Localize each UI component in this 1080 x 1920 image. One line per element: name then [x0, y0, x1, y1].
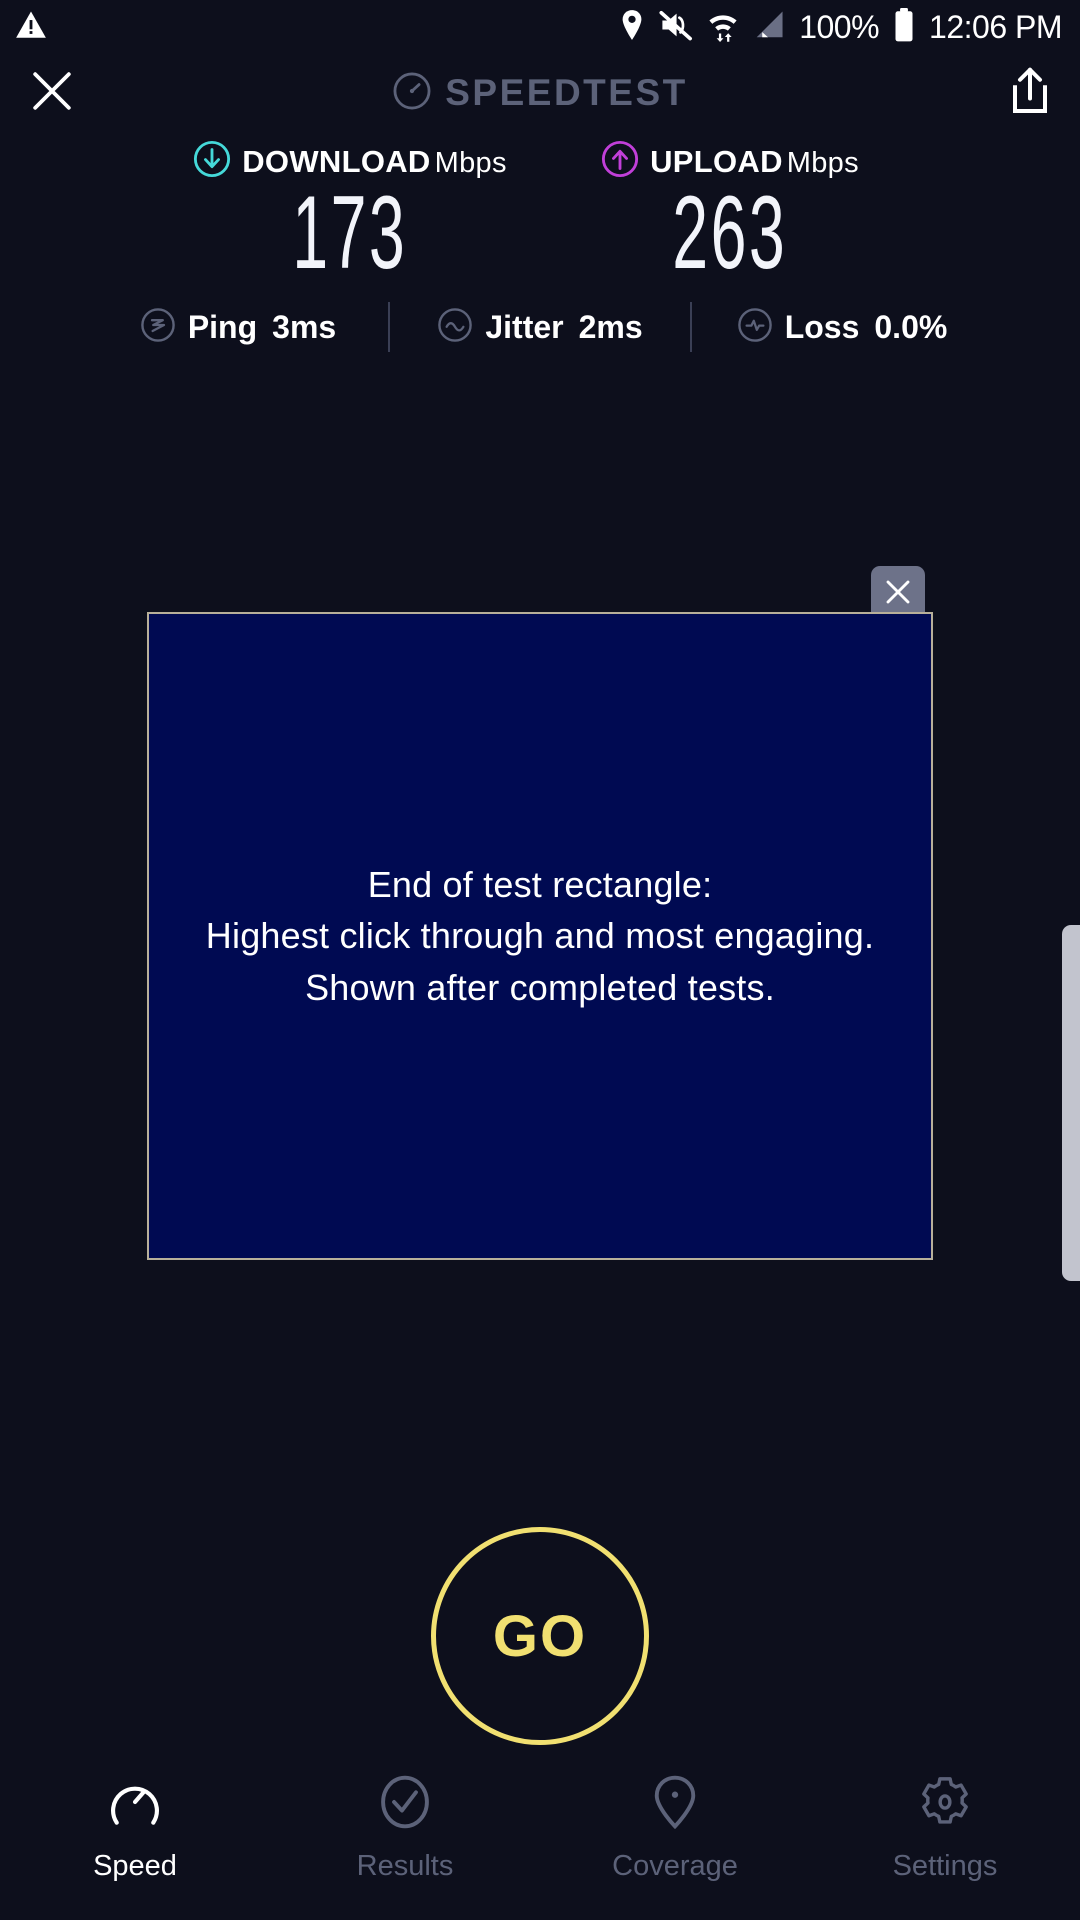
- go-button[interactable]: GO: [431, 1527, 649, 1745]
- nav-label-settings: Settings: [893, 1850, 998, 1883]
- status-bar-left: [14, 8, 48, 47]
- metric-loss: Loss 0.0%: [692, 307, 992, 348]
- status-bar: 100% 12:06 PM: [0, 0, 1080, 54]
- download-result: DOWNLOADMbps 173: [160, 140, 540, 282]
- download-value: 173: [292, 185, 407, 282]
- ad-banner[interactable]: End of test rectangle: Highest click thr…: [147, 612, 933, 1260]
- ad-line-3: Shown after completed tests.: [206, 962, 874, 1013]
- share-upload-icon[interactable]: [1008, 66, 1052, 121]
- speedtest-app-screen: 100% 12:06 PM S: [0, 0, 1080, 1920]
- nav-label-results: Results: [357, 1850, 454, 1883]
- wifi-transfer-icon: [707, 8, 739, 47]
- ping-value: 3ms: [272, 309, 336, 346]
- ad-line-2: Highest click through and most engaging.: [206, 910, 874, 961]
- nav-label-speed: Speed: [93, 1850, 177, 1883]
- jitter-icon: [437, 307, 473, 348]
- ad-text: End of test rectangle: Highest click thr…: [206, 859, 874, 1012]
- ping-label: Ping: [188, 309, 257, 346]
- battery-percent-text: 100%: [799, 11, 879, 43]
- battery-full-icon: [893, 8, 915, 47]
- go-button-label: GO: [493, 1603, 587, 1670]
- close-x-icon[interactable]: [28, 67, 76, 120]
- status-bar-clock: 12:06 PM: [929, 11, 1062, 43]
- upload-unit: Mbps: [787, 147, 859, 179]
- nav-label-coverage: Coverage: [612, 1850, 738, 1883]
- metric-ping: Ping 3ms: [88, 307, 388, 348]
- bottom-navigation: Speed Results Coverage: [0, 1760, 1080, 1920]
- app-bar: SPEEDTEST: [0, 54, 1080, 132]
- volume-muted-icon: [659, 9, 693, 46]
- speed-results-row: DOWNLOADMbps 173 UPLOADMbps 263: [0, 140, 1080, 282]
- warning-triangle-icon: [14, 8, 48, 47]
- check-circle-icon: [377, 1774, 433, 1835]
- metric-jitter: Jitter 2ms: [390, 307, 690, 348]
- metrics-row: Ping 3ms Jitter 2ms Loss 0.0: [0, 302, 1080, 352]
- nav-item-settings[interactable]: Settings: [810, 1774, 1080, 1883]
- advertisement: End of test rectangle: Highest click thr…: [147, 612, 933, 1260]
- status-bar-right: 100% 12:06 PM: [619, 8, 1062, 47]
- speedometer-icon: [392, 71, 432, 116]
- download-arrow-circle-icon: [193, 140, 231, 183]
- ping-icon: [140, 307, 176, 348]
- ad-line-1: End of test rectangle:: [206, 859, 874, 910]
- upload-value: 263: [672, 185, 787, 282]
- nav-item-speed[interactable]: Speed: [0, 1774, 270, 1883]
- ad-close-x-icon[interactable]: [871, 566, 925, 618]
- nav-item-results[interactable]: Results: [270, 1774, 540, 1883]
- upload-arrow-circle-icon: [601, 140, 639, 183]
- gear-icon: [917, 1774, 973, 1835]
- brand-title: SPEEDTEST: [445, 72, 688, 114]
- location-pin-icon: [619, 9, 645, 46]
- app-brand: SPEEDTEST: [0, 71, 1080, 116]
- upload-result: UPLOADMbps 263: [540, 140, 920, 282]
- jitter-label: Jitter: [485, 309, 563, 346]
- map-pin-icon: [647, 1774, 703, 1835]
- nav-item-coverage[interactable]: Coverage: [540, 1774, 810, 1883]
- loss-icon: [737, 307, 773, 348]
- vertical-scrollbar[interactable]: [1062, 925, 1080, 1281]
- jitter-value: 2ms: [579, 309, 643, 346]
- loss-value: 0.0%: [874, 309, 947, 346]
- download-unit: Mbps: [435, 147, 507, 179]
- cellular-signal-icon: [753, 10, 785, 45]
- loss-label: Loss: [785, 309, 860, 346]
- speedometer-nav-icon: [107, 1774, 163, 1835]
- speed-results: DOWNLOADMbps 173 UPLOADMbps 263: [0, 140, 1080, 282]
